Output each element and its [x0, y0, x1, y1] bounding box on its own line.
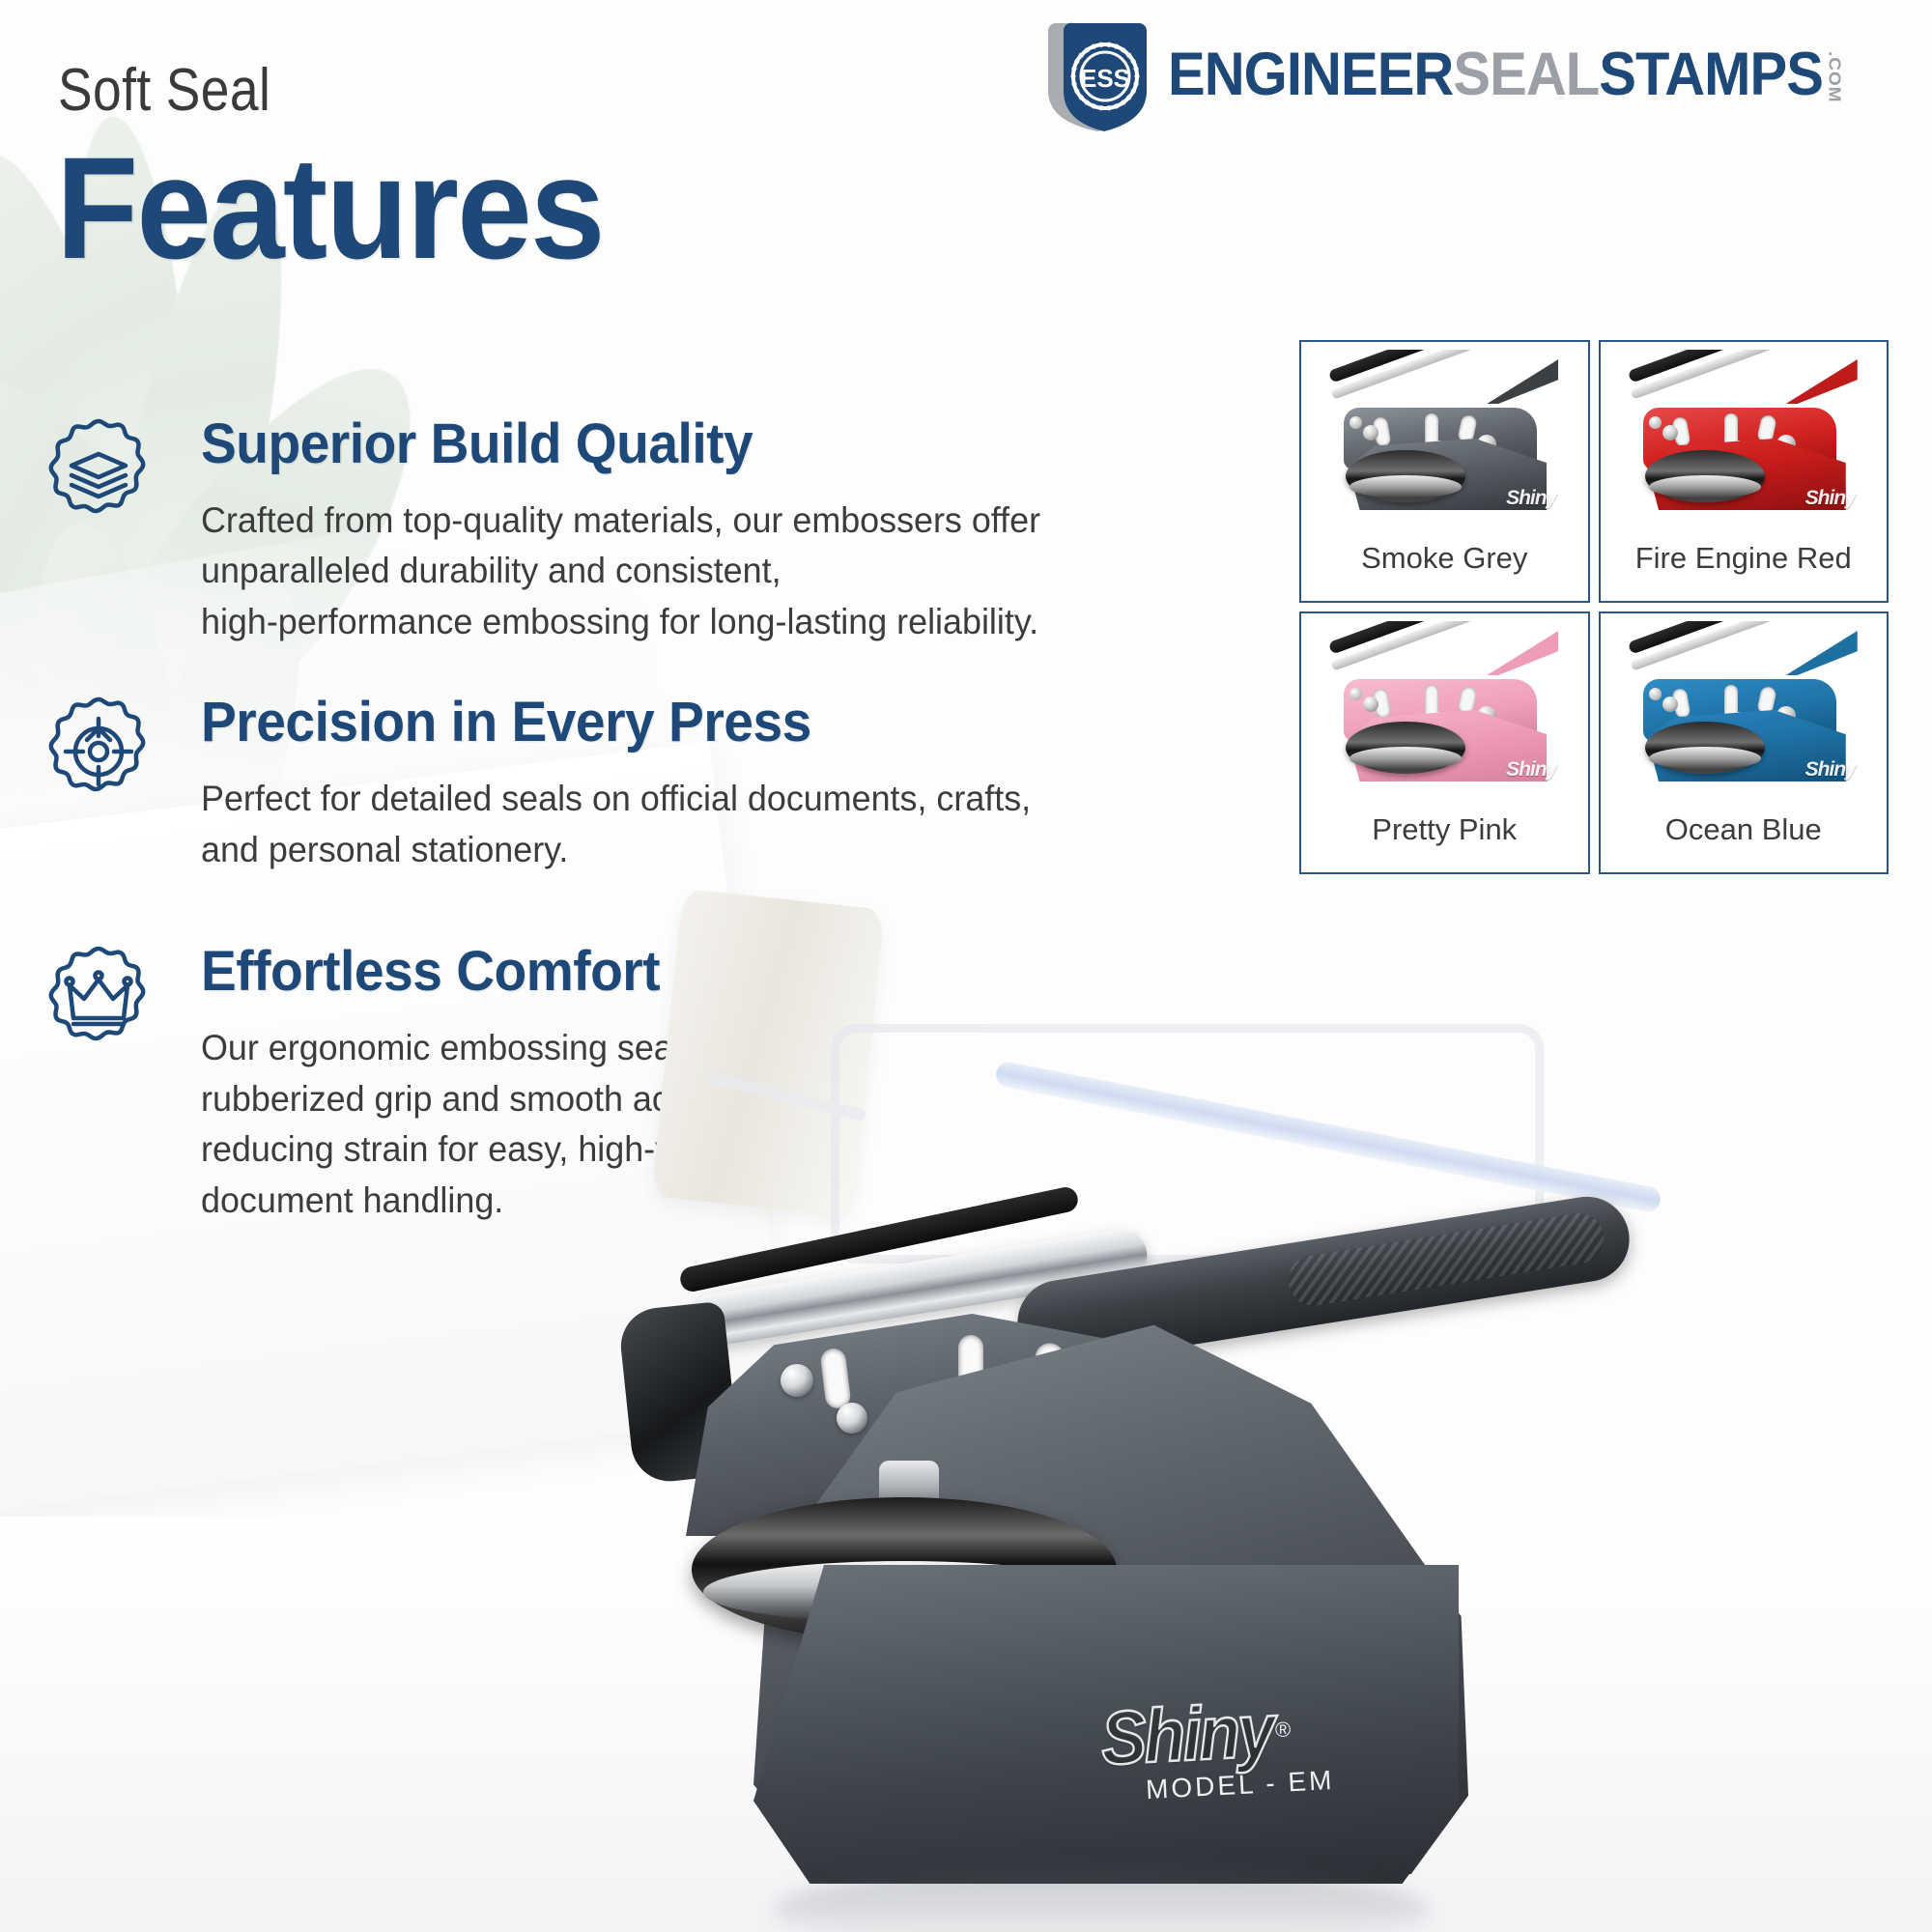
- kicker-text: Soft Seal: [58, 56, 270, 125]
- swatch-label: Pretty Pink: [1372, 812, 1517, 847]
- feature-body-line: Crafted from top-quality materials, our …: [201, 496, 992, 547]
- feature-body-line: and personal stationery.: [201, 825, 992, 876]
- brand-word-stamps: STAMPS: [1599, 44, 1823, 105]
- crown-seal-icon: [41, 943, 156, 1059]
- head-rivet: [781, 1364, 813, 1397]
- swatch-product-image: Shiny MODEL-EM: [1608, 621, 1880, 810]
- feature-item: Precision in Every Press Perfect for det…: [41, 694, 1016, 875]
- swatch-label: Fire Engine Red: [1635, 541, 1852, 576]
- brand-word-engineer: ENGINEER: [1168, 44, 1453, 105]
- svg-text:ESS: ESS: [1080, 64, 1130, 93]
- feature-title: Precision in Every Press: [201, 694, 976, 753]
- layers-seal-icon: [41, 415, 156, 531]
- target-seal-icon: [41, 694, 156, 810]
- feature-item: Superior Build Quality Crafted from top-…: [41, 415, 1016, 647]
- mini-model-mark: MODEL-EM: [1796, 784, 1856, 795]
- feature-body-line: Perfect for detailed seals on official d…: [201, 774, 992, 825]
- color-swatch-card[interactable]: Shiny MODEL-EM Pretty Pink: [1299, 611, 1590, 874]
- color-swatch-card[interactable]: Shiny MODEL-EM Ocean Blue: [1599, 611, 1889, 874]
- brand-word-seal: SEAL: [1453, 44, 1599, 105]
- page-title: Features: [56, 135, 604, 280]
- feature-title: Superior Build Quality: [201, 415, 976, 474]
- mini-model-mark: MODEL-EM: [1496, 513, 1556, 524]
- color-swatch-card[interactable]: Shiny MODEL-EM Smoke Grey: [1299, 340, 1590, 603]
- mini-embosser-illustration: Shiny MODEL-EM: [1624, 629, 1863, 803]
- swatch-label: Smoke Grey: [1361, 541, 1527, 576]
- brand-logo[interactable]: ESS ENGINEERSEALSTAMPS .COM: [1042, 17, 1901, 131]
- swatch-product-image: Shiny MODEL-EM: [1309, 621, 1580, 810]
- hero-product-image: Shiny ® MODEL - EM: [609, 1024, 1903, 1893]
- mini-shiny-mark: Shiny: [1506, 487, 1556, 510]
- swatch-product-image: Shiny MODEL-EM: [1309, 350, 1580, 539]
- mini-embosser-illustration: Shiny MODEL-EM: [1624, 357, 1863, 531]
- mini-model-mark: MODEL-EM: [1496, 784, 1556, 795]
- mini-shiny-mark: Shiny: [1805, 487, 1856, 510]
- brand-tld: .COM: [1826, 51, 1842, 103]
- swatch-product-image: Shiny MODEL-EM: [1608, 350, 1880, 539]
- mini-model-mark: MODEL-EM: [1796, 513, 1856, 524]
- color-swatch-grid: Shiny MODEL-EM Smoke Grey Shiny MODEL-EM: [1299, 340, 1889, 874]
- feature-body: Crafted from top-quality materials, our …: [201, 496, 992, 648]
- mini-embosser-illustration: Shiny MODEL-EM: [1324, 629, 1564, 803]
- ess-shield-icon: ESS: [1042, 17, 1158, 131]
- head-rivet: [837, 1403, 867, 1434]
- feature-body-line: high-performance embossing for long-last…: [201, 597, 992, 648]
- mini-embosser-illustration: Shiny MODEL-EM: [1324, 357, 1564, 531]
- mini-shiny-mark: Shiny: [1506, 758, 1556, 781]
- mini-shiny-mark: Shiny: [1805, 758, 1856, 781]
- swatch-label: Ocean Blue: [1665, 812, 1822, 847]
- color-swatch-card[interactable]: Shiny MODEL-EM Fire Engine Red: [1599, 340, 1889, 603]
- feature-body: Perfect for detailed seals on official d…: [201, 774, 992, 875]
- registered-trademark-icon: ®: [1275, 1718, 1291, 1743]
- feature-body-line: unparalleled durability and consistent,: [201, 546, 992, 597]
- infographic-canvas: Soft Seal Features ESS ENGINEERSEALSTAMP…: [0, 0, 1932, 1932]
- brand-wordmark: ENGINEERSEALSTAMPS .COM: [1168, 44, 1842, 105]
